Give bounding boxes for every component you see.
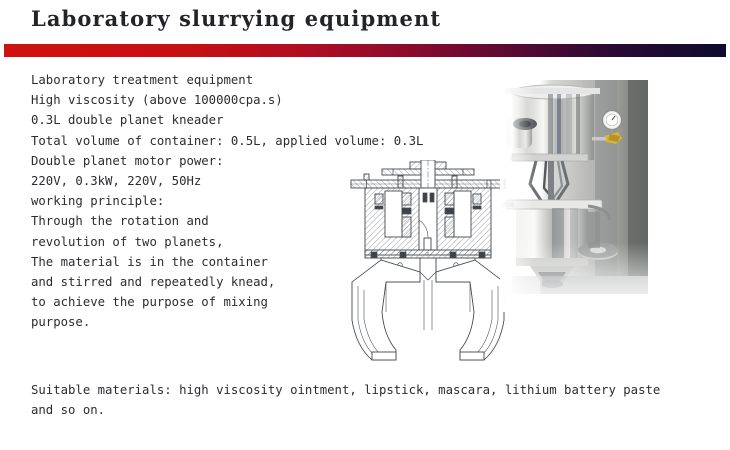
spec-line: Total volume of container: 0.5L, applied… [31,131,361,151]
double-planetary-blade-diagram [338,160,518,365]
spec-line: purpose. [31,312,361,332]
gradient-divider [4,44,726,57]
footer-line: and so on. [31,401,703,421]
spec-line: to achieve the purpose of mixing [31,292,361,312]
spec-line: Laboratory treatment equipment [31,70,361,90]
spec-line: working principle: [31,191,361,211]
spec-line: and stirred and repeatedly knead, [31,272,361,292]
specification-text-block: Laboratory treatment equipment High visc… [31,70,361,332]
equipment-photo-figure [500,62,655,312]
suitable-materials-text: Suitable materials: high viscosity ointm… [31,381,703,420]
footer-line: Suitable materials: high viscosity ointm… [31,381,703,401]
spec-line: revolution of two planets, [31,232,361,252]
spec-line: The material is in the container [31,252,361,272]
spec-line: High viscosity (above 100000cpa.s) [31,90,361,110]
spec-line: 220V, 0.3kW, 220V, 50Hz [31,171,361,191]
spec-line: 0.3L double planet kneader [31,110,361,130]
planetary-mixer-photograph [500,62,655,312]
cad-drawing-figure [338,160,518,365]
page-title: Laboratory slurrying equipment [31,6,441,31]
slide-page: Laboratory slurrying equipment Laborator… [0,0,730,450]
spec-line: Through the rotation and [31,211,361,231]
spec-line: Double planet motor power: [31,151,361,171]
